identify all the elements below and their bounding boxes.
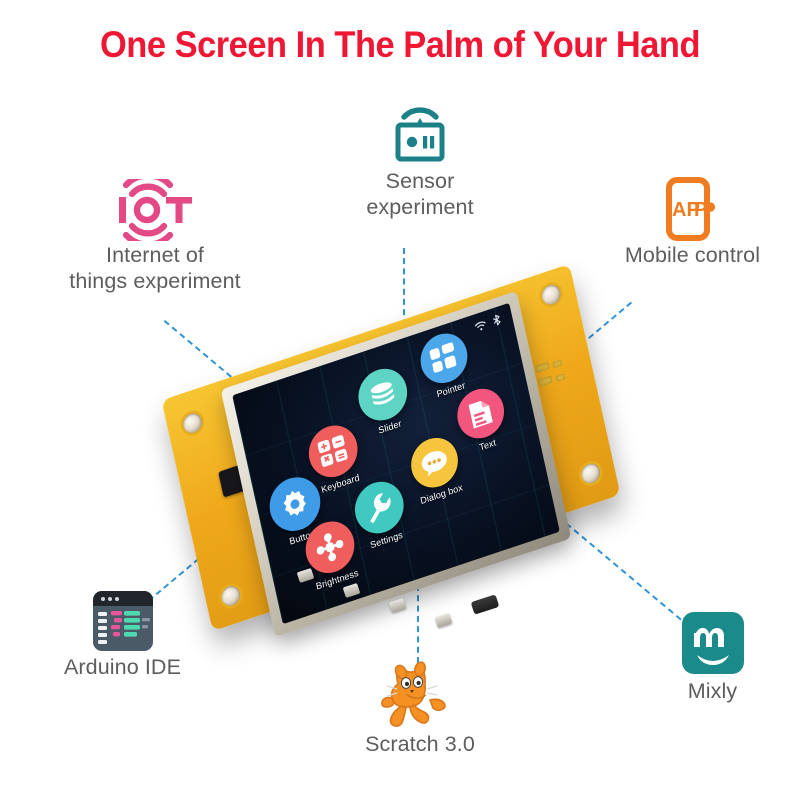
feature-mixly[interactable]: Mixly [625,608,800,704]
pcb-pad [552,360,562,369]
pcb-pad [538,375,553,386]
app-pointer[interactable]: Pointer [416,327,475,402]
stack-icon [354,362,412,427]
svg-text:P: P [694,199,707,221]
app-dialog-box[interactable]: Dialog box [407,432,466,507]
app-grid: Slider Pointer [232,303,560,624]
feature-iot-label: Internet of things experiment [25,242,285,294]
app-label: Text [478,437,497,452]
mount-hole [181,411,203,436]
app-label: Slider [377,418,402,435]
pcb-pad [555,373,565,382]
feature-mixly-label: Mixly [625,678,800,704]
pcb-pad [535,362,550,373]
page-title: One Screen In The Palm of Your Hand [28,24,772,66]
app-brightness[interactable]: Brightness [301,515,362,593]
feature-mobile[interactable]: AP P Mobile control [585,176,800,268]
mount-hole [580,461,602,486]
feature-scratch[interactable]: Scratch 3.0 [320,655,520,757]
app-phone-icon: AP P [585,176,800,242]
app-settings[interactable]: Settings [350,475,411,553]
feature-mobile-label: Mobile control [585,242,800,268]
app-slider[interactable]: Slider [354,362,415,440]
mount-hole [540,282,562,307]
scratch-cat-icon [320,655,520,731]
feature-scratch-label: Scratch 3.0 [320,731,520,757]
app-text[interactable]: Text [453,382,512,457]
sensor-icon [300,104,540,168]
feature-iot[interactable]: Internet of things experiment [25,178,285,294]
iot-icon [25,178,285,242]
mixly-icon [625,608,800,678]
flex-connector [471,594,500,614]
frame-tab [389,598,407,613]
device-photo: Slider Pointer [176,330,636,630]
infographic-canvas: One Screen In The Palm of Your Hand Inte… [0,0,800,800]
document-icon [453,382,509,444]
feature-arduino-label: Arduino IDE [15,654,230,680]
feature-sensor[interactable]: Sensor experiment [300,104,540,220]
frame-tab [435,613,453,628]
feature-sensor-label: Sensor experiment [300,168,540,220]
mount-hole [220,584,242,609]
display-screen[interactable]: Slider Pointer [232,303,560,624]
